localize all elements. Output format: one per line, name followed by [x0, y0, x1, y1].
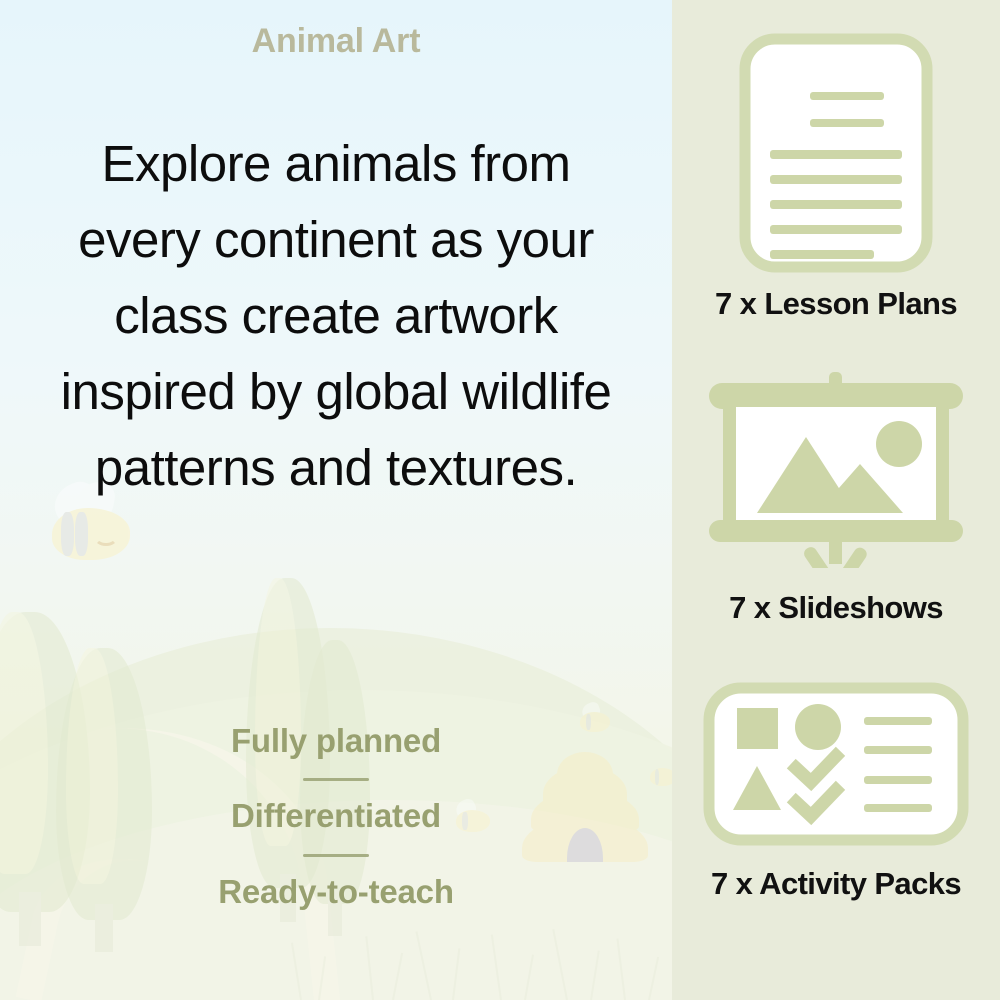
page-title: Animal Art	[0, 22, 672, 61]
deliverable-label-slideshows: 7 x Slideshows	[729, 590, 943, 626]
activity-card-icon	[701, 680, 971, 848]
feature-divider	[303, 854, 369, 857]
feature-item-fully-planned: Fully planned	[0, 722, 672, 760]
poster-canvas: Animal Art Explore animals from every co…	[0, 0, 1000, 1000]
left-panel-content: Animal Art Explore animals from every co…	[0, 0, 672, 1000]
left-panel: Animal Art Explore animals from every co…	[0, 0, 672, 1000]
feature-list: Fully planned Differentiated Ready-to-te…	[0, 722, 672, 911]
projector-screen-icon	[703, 372, 969, 568]
document-icon	[736, 30, 936, 276]
deliverable-label-activity-packs: 7 x Activity Packs	[711, 866, 961, 902]
deliverable-activity-packs: 7 x Activity Packs	[672, 680, 1000, 902]
poster-description: Explore animals from every continent as …	[36, 126, 636, 506]
deliverable-lesson-plans: 7 x Lesson Plans	[672, 30, 1000, 322]
feature-item-differentiated: Differentiated	[0, 797, 672, 835]
feature-item-ready-to-teach: Ready-to-teach	[0, 873, 672, 911]
deliverable-label-lesson-plans: 7 x Lesson Plans	[715, 286, 957, 322]
feature-divider	[303, 778, 369, 781]
deliverable-slideshows: 7 x Slideshows	[672, 372, 1000, 626]
deliverables-panel: 7 x Lesson Plans	[672, 0, 1000, 1000]
